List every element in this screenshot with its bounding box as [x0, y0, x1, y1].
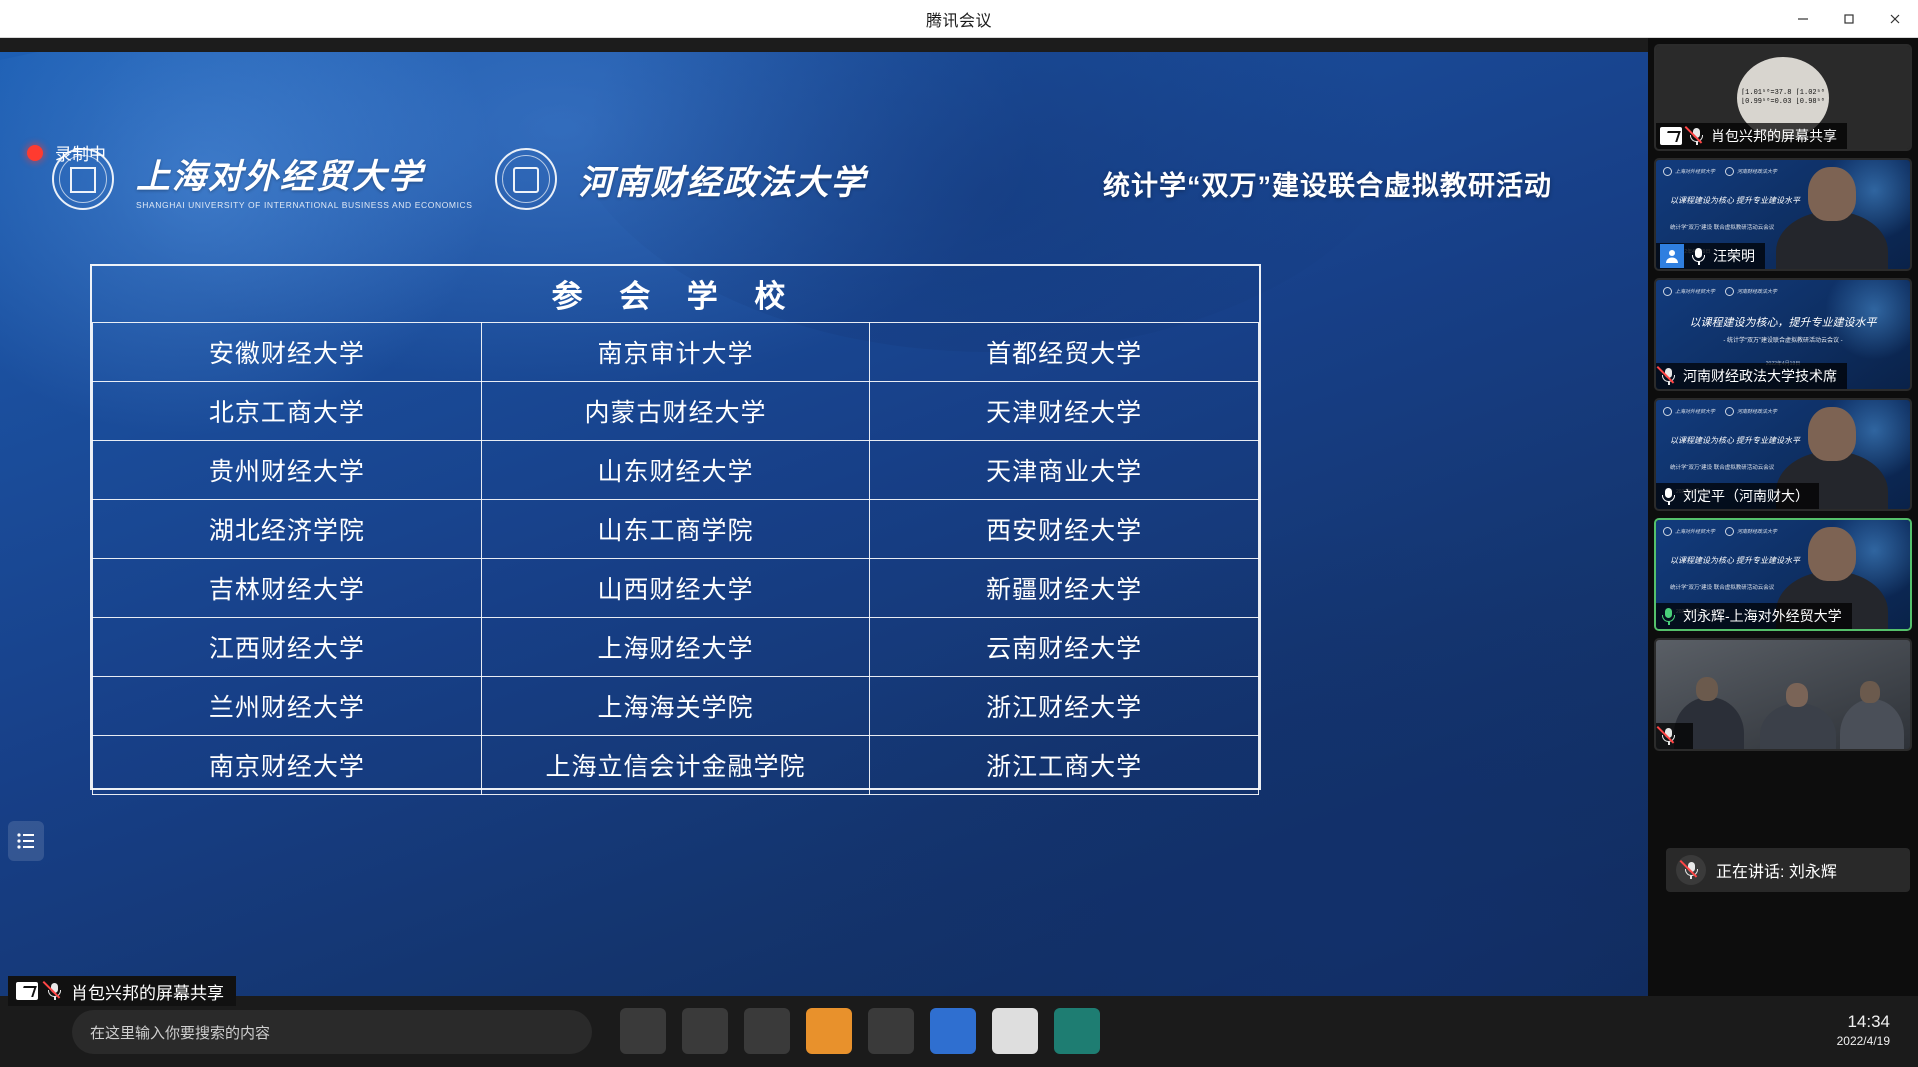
school-cell: 山西财经大学	[481, 558, 870, 617]
participant-head	[1808, 167, 1856, 221]
slide-header: 上海对外经贸大学 SHANGHAI UNIVERSITY OF INTERNAT…	[0, 148, 1648, 224]
tile-slide-title: 以课程建设为核心 提升专业建设水平	[1670, 194, 1800, 208]
table-row: 兰州财经大学上海海关学院浙江财经大学	[93, 676, 1259, 735]
participant-tile[interactable]: ⌈1.01⁵⁰=37.8 ⌈1.02⁵⁰ ⌊0.99⁵⁰=0.03 ⌊0.98⁵…	[1654, 44, 1912, 151]
window-title: 腾讯会议	[926, 7, 992, 31]
tile-video	[1656, 640, 1910, 749]
seal-icon	[1725, 287, 1734, 296]
tile-participant-name: 刘永辉-上海对外经贸大学	[1683, 606, 1842, 626]
university-1-block: 上海对外经贸大学 SHANGHAI UNIVERSITY OF INTERNAT…	[136, 149, 473, 210]
school-cell: 山东工商学院	[481, 499, 870, 558]
mic-muted-icon	[1660, 727, 1677, 746]
university-2-block: 河南财经政法大学	[579, 155, 867, 204]
mic-muted-icon	[1683, 861, 1700, 880]
participant-head	[1808, 527, 1856, 581]
taskbar-date: 2022/4/19	[1837, 1034, 1890, 1048]
school-cell: 山东财经大学	[481, 440, 870, 499]
seal-icon	[1663, 527, 1672, 536]
mic-active-icon	[1660, 607, 1677, 626]
seal-icon	[1663, 167, 1672, 176]
screen-share-icon	[1660, 127, 1682, 145]
participant-tile[interactable]: 上海对外经贸大学河南财经政法大学以课程建设为核心 提升专业建设水平统计学“双万”…	[1654, 518, 1912, 631]
taskbar-clock[interactable]: 14:34 2022/4/19	[1837, 1012, 1890, 1048]
school-cell: 天津商业大学	[870, 440, 1259, 499]
tile-slide-title: 以课程建设为核心 提升专业建设水平	[1670, 554, 1800, 568]
school-cell: 吉林财经大学	[93, 558, 482, 617]
school-cell: 西安财经大学	[870, 499, 1259, 558]
school-cell: 浙江财经大学	[870, 676, 1259, 735]
mic-on-icon	[1660, 487, 1677, 506]
maximize-button[interactable]	[1826, 0, 1872, 38]
seal-icon	[1725, 527, 1734, 536]
henan-university-seal-icon	[495, 148, 557, 210]
slide-mini-logos: 上海对外经贸大学河南财经政法大学	[1663, 167, 1777, 176]
table-row: 南京财经大学上海立信会计金融学院浙江工商大学	[93, 735, 1259, 794]
taskbar-app-icons[interactable]	[620, 1008, 1100, 1054]
university-1-name: 上海对外经贸大学	[136, 149, 473, 198]
school-cell: 新疆财经大学	[870, 558, 1259, 617]
school-cell: 浙江工商大学	[870, 735, 1259, 794]
recording-label: 录制中	[55, 140, 106, 165]
window-title-bar: 腾讯会议	[0, 0, 1918, 38]
school-cell: 首都经贸大学	[870, 322, 1259, 381]
stage-top-strip	[0, 38, 1648, 52]
school-cell: 云南财经大学	[870, 617, 1259, 676]
school-cell: 上海立信会计金融学院	[481, 735, 870, 794]
participant-tile[interactable]: 上海对外经贸大学河南财经政法大学以课程建设为核心 提升专业建设水平统计学“双万”…	[1654, 158, 1912, 271]
mic-muted-icon	[1688, 127, 1705, 146]
slide-mini-logos: 上海对外经贸大学河南财经政法大学	[1663, 407, 1777, 416]
slide-mini-logos: 上海对外经贸大学河南财经政法大学	[1663, 527, 1777, 536]
avatar	[1660, 244, 1684, 268]
minimize-button[interactable]	[1780, 0, 1826, 38]
participant-tile[interactable]: 上海对外经贸大学河南财经政法大学以课程建设为核心 提升专业建设水平统计学“双万”…	[1654, 398, 1912, 511]
table-header-cell: 参 会 学 校	[93, 266, 1259, 322]
seal-icon	[1725, 167, 1734, 176]
screen-share-icon	[16, 982, 38, 1000]
window-controls	[1780, 0, 1918, 38]
tile-slide-subtitle: 统计学“双万”建设 联合虚拟教研活动云会议	[1670, 464, 1774, 473]
university-logos: 上海对外经贸大学 SHANGHAI UNIVERSITY OF INTERNAT…	[52, 148, 867, 210]
tile-slide-title: 以课程建设为核心 提升专业建设水平	[1670, 434, 1800, 448]
school-cell: 湖北经济学院	[93, 499, 482, 558]
taskbar-icon-5[interactable]	[868, 1008, 914, 1054]
participant-tile[interactable]: 上海对外经贸大学河南财经政法大学以课程建设为核心，提升专业建设水平- 统计学“双…	[1654, 278, 1912, 391]
school-cell: 北京工商大学	[93, 381, 482, 440]
taskbar-icon-1[interactable]	[620, 1008, 666, 1054]
tile-slide-subtitle: 统计学“双万”建设 联合虚拟教研活动云会议	[1670, 584, 1774, 593]
screen-share-badge: 肖包兴邦的屏幕共享	[8, 976, 236, 1006]
seal-icon	[1725, 407, 1734, 416]
close-button[interactable]	[1872, 0, 1918, 38]
participant-head	[1808, 407, 1856, 461]
tile-name-bar: 刘定平（河南财大）	[1656, 483, 1819, 509]
university-2-name: 河南财经政法大学	[579, 155, 867, 204]
school-cell: 安徽财经大学	[93, 322, 482, 381]
table-body: 参 会 学 校 安徽财经大学南京审计大学首都经贸大学北京工商大学内蒙古财经大学天…	[93, 266, 1259, 794]
os-taskbar[interactable]: 在这里输入你要搜索的内容 14:34 2022/4/19	[0, 996, 1918, 1067]
active-speaker-toast: 正在讲话: 刘永辉	[1666, 848, 1910, 892]
participant-tile[interactable]	[1654, 638, 1912, 751]
school-cell: 南京审计大学	[481, 322, 870, 381]
tile-slide-subtitle: - 统计学“双万”建设联合虚拟教研活动云会议 -	[1656, 335, 1910, 344]
table-row: 湖北经济学院山东工商学院西安财经大学	[93, 499, 1259, 558]
table-row: 吉林财经大学山西财经大学新疆财经大学	[93, 558, 1259, 617]
university-1-subtitle: SHANGHAI UNIVERSITY OF INTERNATIONAL BUS…	[136, 200, 473, 210]
taskbar-icon-2[interactable]	[682, 1008, 728, 1054]
taskbar-icon-4[interactable]	[806, 1008, 852, 1054]
tile-name-bar: 刘永辉-上海对外经贸大学	[1656, 603, 1852, 629]
tile-name-bar: 肖包兴邦的屏幕共享	[1656, 123, 1847, 149]
tile-name-bar	[1656, 723, 1693, 749]
tile-participant-name: 肖包兴邦的屏幕共享	[1711, 126, 1837, 146]
mic-on-icon	[1690, 247, 1707, 266]
school-cell: 江西财经大学	[93, 617, 482, 676]
mic-muted-icon	[1660, 367, 1677, 386]
active-speaker-label: 正在讲话: 刘永辉	[1716, 858, 1837, 882]
tile-participant-name: 汪荣明	[1713, 246, 1755, 266]
recording-indicator: 录制中	[27, 140, 106, 165]
tile-name-bar: 河南财经政法大学技术席	[1656, 363, 1847, 389]
slide-mini-logos: 上海对外经贸大学河南财经政法大学	[1663, 287, 1777, 296]
tile-name-bar: 汪荣明	[1656, 243, 1765, 269]
tile-slide-title: 以课程建设为核心，提升专业建设水平	[1656, 314, 1910, 330]
taskbar-search-input[interactable]: 在这里输入你要搜索的内容	[72, 1010, 592, 1054]
speaker-mic-circle	[1676, 855, 1706, 885]
person-icon	[1664, 248, 1680, 264]
school-cell: 兰州财经大学	[93, 676, 482, 735]
recording-dot-icon	[27, 145, 43, 161]
table-row: 贵州财经大学山东财经大学天津商业大学	[93, 440, 1259, 499]
taskbar-search-placeholder: 在这里输入你要搜索的内容	[90, 1022, 270, 1043]
school-cell: 上海财经大学	[481, 617, 870, 676]
seal-icon	[1663, 407, 1672, 416]
seal-icon	[1663, 287, 1672, 296]
tile-slide-subtitle: 统计学“双万”建设 联合虚拟教研活动云会议	[1670, 224, 1774, 233]
school-cell: 天津财经大学	[870, 381, 1259, 440]
participating-schools-table: 参 会 学 校 安徽财经大学南京审计大学首都经贸大学北京工商大学内蒙古财经大学天…	[90, 264, 1261, 790]
school-cell: 贵州财经大学	[93, 440, 482, 499]
table-row: 北京工商大学内蒙古财经大学天津财经大学	[93, 381, 1259, 440]
school-cell: 内蒙古财经大学	[481, 381, 870, 440]
taskbar-icon-8[interactable]	[1054, 1008, 1100, 1054]
taskbar-icon-3[interactable]	[744, 1008, 790, 1054]
tile-participant-name: 刘定平（河南财大）	[1683, 486, 1809, 506]
table-row: 江西财经大学上海财经大学云南财经大学	[93, 617, 1259, 676]
meeting-window-body: 录制中 上海对外经贸大学 SHANGHAI UNIVERSITY OF INTE…	[0, 38, 1918, 1029]
school-cell: 南京财经大学	[93, 735, 482, 794]
layout-list-button[interactable]	[8, 821, 44, 861]
table-header-row: 参 会 学 校	[93, 266, 1259, 322]
school-cell: 上海海关学院	[481, 676, 870, 735]
document-equation-text: ⌈1.01⁵⁰=37.8 ⌈1.02⁵⁰ ⌊0.99⁵⁰=0.03 ⌊0.98⁵…	[1737, 89, 1829, 107]
taskbar-icon-7[interactable]	[992, 1008, 1038, 1054]
taskbar-time: 14:34	[1837, 1012, 1890, 1032]
share-badge-label: 肖包兴邦的屏幕共享	[71, 979, 224, 1004]
list-view-icon	[16, 832, 36, 850]
tile-participant-name: 河南财经政法大学技术席	[1683, 366, 1837, 386]
event-title: 统计学“双万”建设联合虚拟教研活动	[1103, 164, 1552, 203]
taskbar-icon-6[interactable]	[930, 1008, 976, 1054]
mic-muted-icon	[46, 982, 63, 1001]
shared-screen-stage[interactable]: 录制中 上海对外经贸大学 SHANGHAI UNIVERSITY OF INTE…	[0, 52, 1648, 996]
table-row: 安徽财经大学南京审计大学首都经贸大学	[93, 322, 1259, 381]
